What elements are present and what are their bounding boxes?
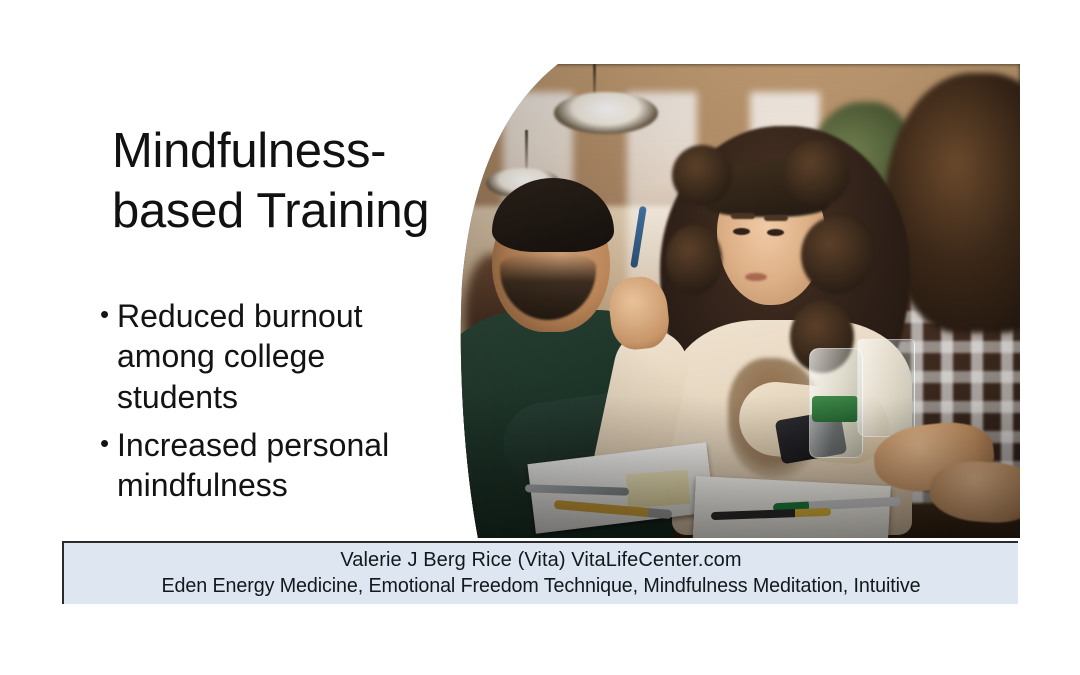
page-title: Mindfulness- based Training [112,122,492,242]
list-item-label: Reduced burnout among college students [117,296,430,417]
slide-photo [458,64,1020,538]
bullet-dot-icon: • [100,296,117,334]
bullet-list: • Reduced burnout among college students… [100,296,430,514]
footer-banner: Valerie J Berg Rice (Vita) VitaLifeCente… [62,541,1018,604]
list-item-label: Increased personal mindfulness [117,425,430,506]
footer-services-line: Eden Energy Medicine, Emotional Freedom … [71,573,1011,599]
bullet-dot-icon: • [100,425,117,463]
slide-canvas: Mindfulness- based Training • Reduced bu… [0,0,1080,675]
group-study-photo [458,64,1020,538]
list-item: • Reduced burnout among college students [100,296,430,417]
footer-presenter-line: Valerie J Berg Rice (Vita) VitaLifeCente… [64,543,1018,573]
photo-vignette [458,64,1020,538]
list-item: • Increased personal mindfulness [100,425,430,506]
